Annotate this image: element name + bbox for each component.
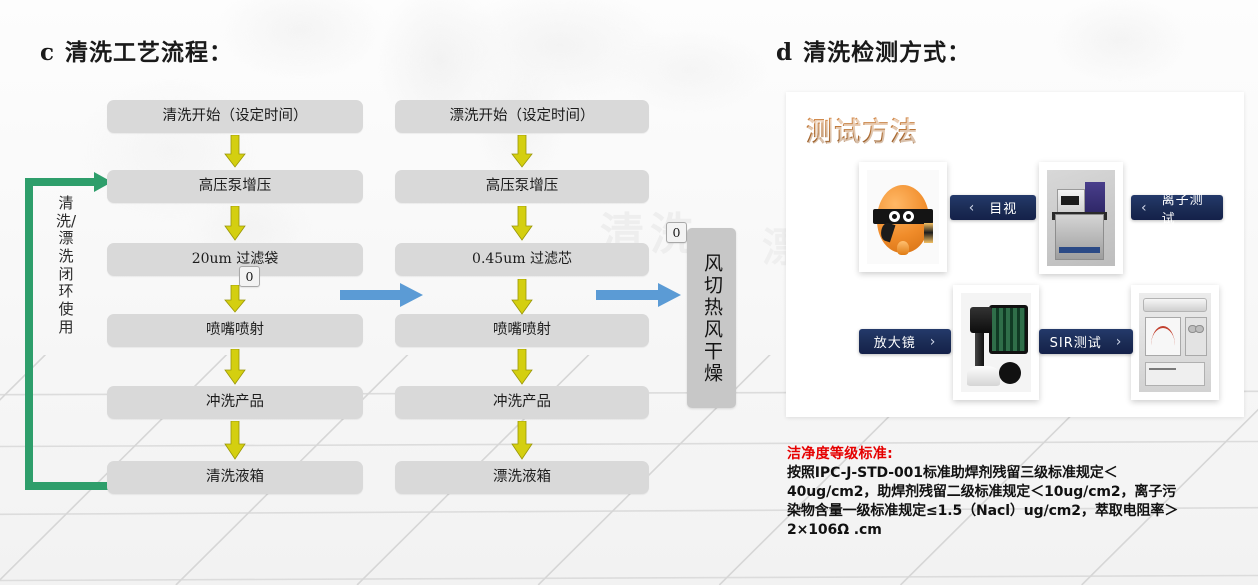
flow-step-rinse-4[interactable]: 喷嘴喷射: [395, 314, 649, 347]
down-arrow-icon-wash-2: [224, 206, 246, 241]
down-arrow-icon-rinse-1: [511, 135, 533, 168]
microscope-illustration-icon: [961, 293, 1031, 392]
drying-counter-badge[interactable]: 0: [666, 222, 687, 243]
down-arrow-icon-wash-4: [224, 349, 246, 385]
method-label-visual-text: 目视: [989, 198, 1017, 217]
photo-frame-visual[interactable]: [859, 162, 947, 272]
flow-step-wash-1[interactable]: 清洗开始（设定时间）: [107, 100, 363, 133]
cleanliness-standard-note: 洁净度等级标准: 按照IPC-J-STD-001标准助焊剂残留三级标准规定＜40…: [787, 443, 1181, 540]
detection-methods-panel: 测试方法: [786, 92, 1244, 417]
transfer-arrow-icon-2: [596, 282, 682, 308]
mascot-illustration-icon: [867, 170, 939, 264]
down-arrow-icon-rinse-5: [511, 421, 533, 460]
down-arrow-icon-wash-3: [224, 285, 246, 313]
flow-step-rinse-1[interactable]: 漂洗开始（设定时间）: [395, 100, 649, 133]
filter-counter-badge[interactable]: 0: [239, 266, 260, 287]
ion-tester-illustration-icon: [1047, 170, 1115, 266]
sir-equipment-illustration-icon: [1139, 293, 1211, 392]
drying-label: 风切热风干燥: [702, 253, 721, 385]
down-arrow-icon-rinse-3: [511, 279, 533, 315]
transfer-arrow-icon-1: [340, 282, 424, 308]
standard-note-heading: 洁净度等级标准:: [787, 443, 1181, 463]
flow-step-drying[interactable]: 风切热风干燥: [687, 228, 736, 408]
flow-step-rinse-6[interactable]: 漂洗液箱: [395, 461, 649, 494]
down-arrow-icon-rinse-2: [511, 206, 533, 241]
chevron-left-icon: ‹: [969, 201, 976, 215]
method-label-ion[interactable]: ‹ 离子测试: [1131, 195, 1223, 220]
method-label-ion-text: 离子测试: [1162, 189, 1213, 227]
flow-step-wash-2[interactable]: 高压泵增压: [107, 170, 363, 203]
flow-step-rinse-2[interactable]: 高压泵增压: [395, 170, 649, 203]
photo-frame-magnifier[interactable]: [953, 285, 1039, 400]
flow-step-rinse-5[interactable]: 冲洗产品: [395, 386, 649, 419]
photo-frame-ion[interactable]: [1039, 162, 1123, 274]
visual-inspection-mascot-photo: [867, 170, 939, 264]
method-label-visual[interactable]: ‹ 目视: [950, 195, 1036, 220]
chevron-left-icon: ‹: [1141, 201, 1148, 215]
section-d-title-text: 清洗检测方式：: [803, 39, 971, 66]
down-arrow-icon-wash-1: [224, 135, 246, 168]
flow-step-wash-6[interactable]: 清洗液箱: [107, 461, 363, 494]
photo-frame-sir[interactable]: [1131, 285, 1219, 400]
down-arrow-icon-rinse-4: [511, 349, 533, 385]
panel-title: 测试方法: [806, 110, 918, 149]
method-label-sir[interactable]: SIR测试 ›: [1039, 329, 1133, 354]
chevron-right-icon: ›: [1116, 335, 1123, 349]
method-label-sir-text: SIR测试: [1050, 332, 1102, 351]
flow-step-wash-5[interactable]: 冲洗产品: [107, 386, 363, 419]
sir-test-equipment-photo: [1139, 293, 1211, 392]
section-d-heading: d清洗检测方式：: [776, 33, 971, 67]
flow-step-rinse-3[interactable]: 0.45um 过滤芯: [395, 243, 649, 276]
loop-label: 清洗/漂洗闭环使用: [54, 195, 78, 337]
down-arrow-icon-wash-5: [224, 421, 246, 460]
cleaning-process-flowchart: 清洗/漂洗闭环使用 清洗开始（设定时间） 高压泵增压 20um 过滤袋 喷嘴喷射…: [0, 0, 770, 585]
section-d-marker: d: [776, 39, 793, 66]
flow-step-wash-3[interactable]: 20um 过滤袋: [107, 243, 363, 276]
ion-contamination-tester-photo: [1047, 170, 1115, 266]
method-label-magnifier[interactable]: 放大镜 ›: [859, 329, 951, 354]
magnifier-microscope-photo: [961, 293, 1031, 392]
chevron-right-icon: ›: [930, 335, 937, 349]
flow-step-wash-4[interactable]: 喷嘴喷射: [107, 314, 363, 347]
standard-note-body: 按照IPC-J-STD-001标准助焊剂残留三级标准规定＜40ug/cm2，助焊…: [787, 464, 1181, 540]
method-label-magnifier-text: 放大镜: [874, 332, 916, 351]
